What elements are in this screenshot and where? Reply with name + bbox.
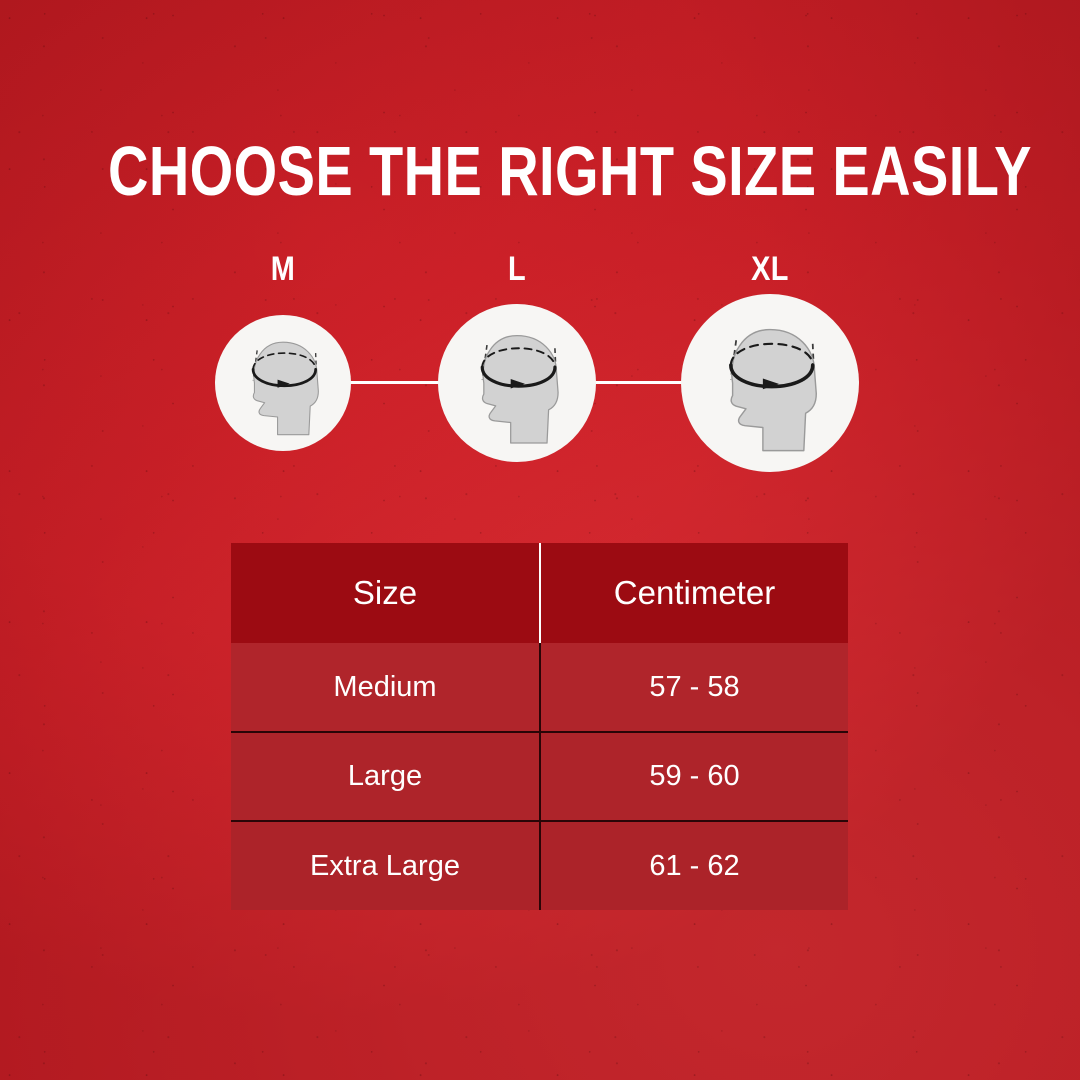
cell-size-extra-large: Extra Large xyxy=(231,821,540,910)
cell-centimeter-extra-large: 61 - 62 xyxy=(540,821,848,910)
size-chart-wrapper: Size Centimeter Medium 57 - 58 Large 59 … xyxy=(231,543,848,895)
table-header-row: Size Centimeter xyxy=(231,543,848,643)
size-selector-row: M L xyxy=(0,252,1080,482)
size-circle-xl xyxy=(681,294,859,472)
head-measure-icon xyxy=(681,294,859,472)
head-measure-icon xyxy=(215,315,351,451)
cell-centimeter-medium: 57 - 58 xyxy=(540,643,848,732)
table-row: Medium 57 - 58 xyxy=(231,643,848,732)
size-node-l[interactable]: L xyxy=(438,252,596,462)
size-circle-l xyxy=(438,304,596,462)
cell-size-medium: Medium xyxy=(231,643,540,732)
size-guide-poster: CHOOSE THE RIGHT SIZE EASILY M xyxy=(0,0,1080,1080)
connector-line-l-to-xl xyxy=(588,381,684,384)
column-header-centimeter: Centimeter xyxy=(540,543,848,643)
size-chart-table: Size Centimeter Medium 57 - 58 Large 59 … xyxy=(231,543,848,910)
size-node-label-m: M xyxy=(225,252,341,286)
connector-line-m-to-l xyxy=(338,381,442,384)
cell-centimeter-large: 59 - 60 xyxy=(540,732,848,821)
size-node-label-xl: XL xyxy=(694,252,845,286)
size-circle-m xyxy=(215,315,351,451)
column-header-size: Size xyxy=(231,543,540,643)
table-row: Large 59 - 60 xyxy=(231,732,848,821)
head-measure-icon xyxy=(438,304,596,462)
page-title: CHOOSE THE RIGHT SIZE EASILY xyxy=(108,132,972,210)
size-node-m[interactable]: M xyxy=(215,252,351,451)
table-row: Extra Large 61 - 62 xyxy=(231,821,848,910)
size-node-label-l: L xyxy=(450,252,584,286)
size-node-xl[interactable]: XL xyxy=(681,252,859,472)
cell-size-large: Large xyxy=(231,732,540,821)
